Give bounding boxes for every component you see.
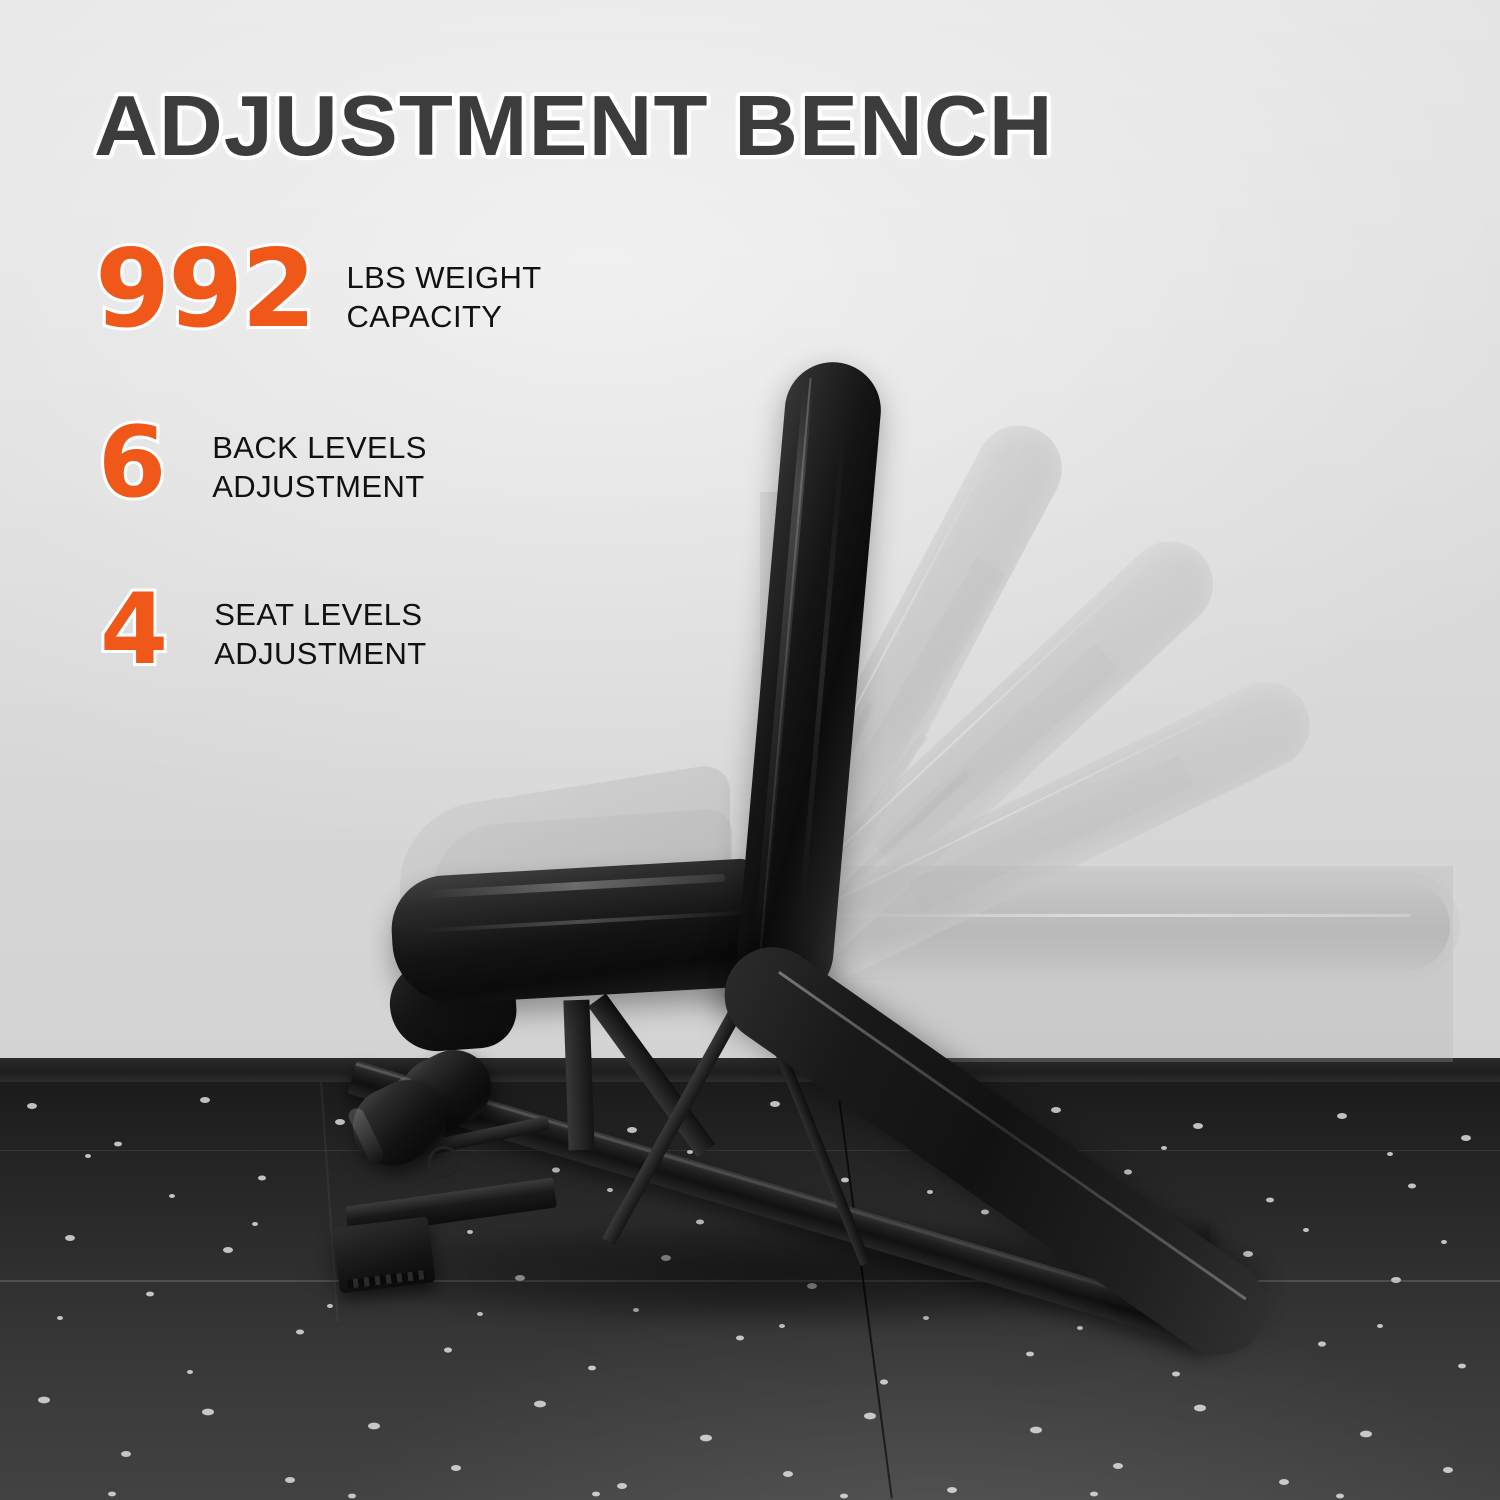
front-rubber-foot: [332, 1216, 435, 1293]
stat-weight-capacity: 992 LBS WEIGHT CAPACITY: [95, 240, 542, 339]
frame-vertical-post: [563, 1000, 594, 1151]
stat-seat-levels: 4 SEAT LEVELS ADJUSTMENT: [100, 585, 427, 675]
stat-label-back-levels: BACK LEVELS ADJUSTMENT: [212, 428, 427, 507]
adjustable-weight-bench: [0, 0, 1500, 1500]
backrest-highlight-secondary: [799, 433, 846, 912]
page-title: ADJUSTMENT BENCH: [94, 78, 1054, 176]
stat-number-4: 4: [100, 585, 166, 675]
seat-top-highlight: [425, 874, 725, 899]
stat-label-seat-levels: SEAT LEVELS ADJUSTMENT: [214, 595, 426, 674]
seat-mid-highlight: [422, 911, 742, 933]
stat-number-992: 992: [95, 240, 314, 339]
stat-back-levels: 6 BACK LEVELS ADJUSTMENT: [98, 418, 427, 508]
stat-label-weight-capacity: LBS WEIGHT CAPACITY: [346, 258, 541, 337]
pop-pin-ring: [428, 1146, 460, 1178]
stat-number-6: 6: [98, 418, 164, 508]
roller-highlight: [346, 1106, 386, 1165]
product-infographic: ADJUSTMENT BENCH 992 LBS WEIGHT CAPACITY…: [0, 0, 1500, 1500]
seat-pad: [389, 858, 768, 1007]
